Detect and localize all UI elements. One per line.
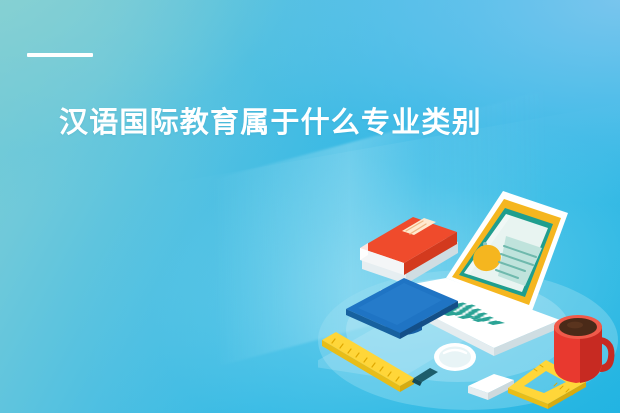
study-desk-illustration <box>318 180 620 413</box>
accent-rule <box>27 53 93 57</box>
banner-card: 汉语国际教育属于什么专业类别 <box>0 0 620 413</box>
page-title: 汉语国际教育属于什么专业类别 <box>59 105 482 142</box>
